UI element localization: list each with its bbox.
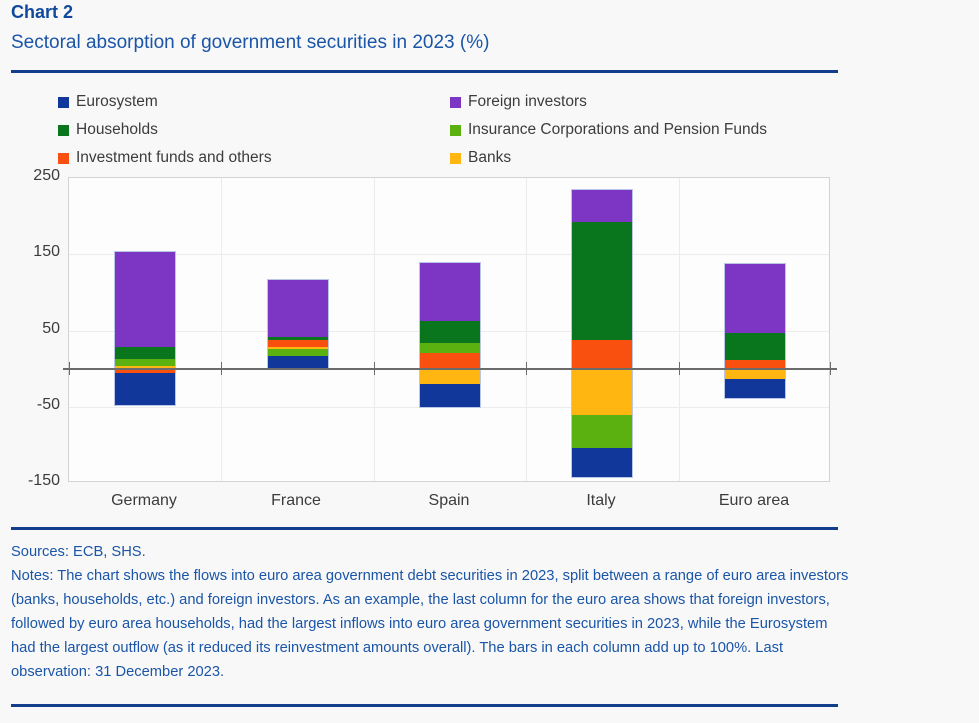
legend-item-label: Eurosystem <box>76 93 158 111</box>
x-axis-category-label: Euro area <box>678 492 830 510</box>
bar-column[interactable] <box>724 178 786 483</box>
legend-item[interactable]: Investment funds and others <box>58 144 272 172</box>
bar-segment[interactable] <box>267 340 329 347</box>
zero-axis-line <box>63 368 837 370</box>
bar-segment[interactable] <box>571 369 633 416</box>
y-axis-tick-label: 250 <box>4 167 60 185</box>
legend-swatch-icon <box>450 125 461 136</box>
bar-segment[interactable] <box>571 448 633 478</box>
legend-item[interactable]: Banks <box>450 144 767 172</box>
y-axis-labels: 25015050-50-150 <box>0 177 60 482</box>
zero-axis-tick <box>374 362 375 375</box>
chart-number-label: Chart 2 <box>11 2 73 23</box>
bar-segment[interactable] <box>724 379 786 400</box>
legend-swatch-icon <box>58 97 69 108</box>
bar-segment[interactable] <box>571 222 633 340</box>
legend-item-label: Banks <box>468 149 511 167</box>
bar-segment[interactable] <box>724 263 786 333</box>
zero-axis-tick <box>830 362 831 375</box>
bar-segment[interactable] <box>419 353 481 369</box>
legend-item[interactable]: Households <box>58 116 272 144</box>
bar-segment[interactable] <box>114 251 176 346</box>
legend-item[interactable]: Foreign investors <box>450 88 767 116</box>
bar-segment[interactable] <box>571 189 633 223</box>
y-axis-tick-label: 50 <box>4 320 60 338</box>
bar-segment[interactable] <box>571 415 633 448</box>
gridline-vertical <box>679 178 680 481</box>
x-axis-category-label: France <box>220 492 372 510</box>
legend-item-label: Insurance Corporations and Pension Funds <box>468 121 767 139</box>
legend-item-label: Foreign investors <box>468 93 587 111</box>
bar-column[interactable] <box>571 178 633 483</box>
bar-segment[interactable] <box>419 321 481 343</box>
legend-swatch-icon <box>58 153 69 164</box>
bar-segment[interactable] <box>114 347 176 359</box>
bar-segment[interactable] <box>571 340 633 368</box>
x-axis-category-label: Spain <box>373 492 525 510</box>
zero-axis-tick <box>69 362 70 375</box>
notes-line: Notes: The chart shows the flows into eu… <box>11 564 851 684</box>
y-axis-tick-label: -150 <box>4 472 60 490</box>
zero-axis-tick <box>221 362 222 375</box>
chart-legend: EurosystemHouseholdsInvestment funds and… <box>58 88 848 164</box>
bar-segment[interactable] <box>267 349 329 356</box>
zero-axis-tick <box>526 362 527 375</box>
plot-area <box>68 177 830 482</box>
chart-page: Chart 2 Sectoral absorption of governmen… <box>0 0 979 723</box>
legend-swatch-icon <box>58 125 69 136</box>
bar-column[interactable] <box>267 178 329 483</box>
sources-line: Sources: ECB, SHS. <box>11 540 851 564</box>
chart-footnotes: Sources: ECB, SHS. Notes: The chart show… <box>11 540 851 684</box>
bar-segment[interactable] <box>419 384 481 408</box>
legend-column-left: EurosystemHouseholdsInvestment funds and… <box>58 88 272 172</box>
gridline-vertical <box>221 178 222 481</box>
y-axis-tick-label: 150 <box>4 243 60 261</box>
legend-item-label: Households <box>76 121 158 139</box>
bar-segment[interactable] <box>267 337 329 339</box>
legend-swatch-icon <box>450 97 461 108</box>
legend-item[interactable]: Insurance Corporations and Pension Funds <box>450 116 767 144</box>
legend-item-label: Investment funds and others <box>76 149 272 167</box>
bar-segment[interactable] <box>114 373 176 406</box>
bar-segment[interactable] <box>724 333 786 360</box>
x-axis-category-label: Germany <box>68 492 220 510</box>
legend-column-right: Foreign investorsInsurance Corporations … <box>450 88 767 172</box>
x-axis-category-label: Italy <box>525 492 677 510</box>
divider-bottom <box>11 704 838 707</box>
divider-middle <box>11 527 838 530</box>
gridline-vertical <box>526 178 527 481</box>
bar-segment[interactable] <box>724 369 786 379</box>
y-axis-tick-label: -50 <box>4 396 60 414</box>
bar-segment[interactable] <box>419 343 481 352</box>
zero-axis-tick <box>679 362 680 375</box>
bar-column[interactable] <box>114 178 176 483</box>
gridline-vertical <box>374 178 375 481</box>
bar-segment[interactable] <box>267 279 329 337</box>
divider-top <box>11 70 838 73</box>
bar-segment[interactable] <box>267 347 329 349</box>
bar-column[interactable] <box>419 178 481 483</box>
bar-segment[interactable] <box>114 359 176 366</box>
chart-subtitle: Sectoral absorption of government securi… <box>11 32 489 54</box>
bar-segment[interactable] <box>419 369 481 384</box>
legend-swatch-icon <box>450 153 461 164</box>
bar-segment[interactable] <box>419 262 481 321</box>
x-axis-labels: GermanyFranceSpainItalyEuro area <box>68 492 830 518</box>
legend-item[interactable]: Eurosystem <box>58 88 272 116</box>
